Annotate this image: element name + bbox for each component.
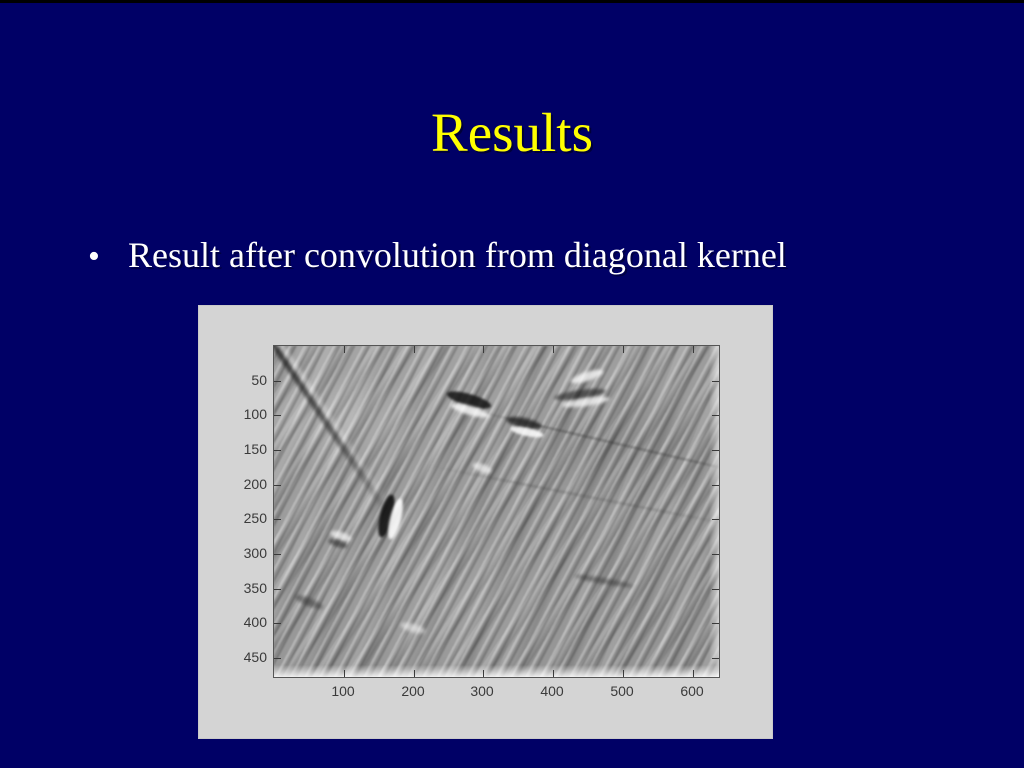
y-tick-label: 100 bbox=[244, 407, 267, 421]
y-tick-mark bbox=[274, 623, 281, 624]
y-tick-label: 300 bbox=[244, 546, 267, 560]
x-tick-label: 300 bbox=[470, 684, 493, 698]
bullet-list-item: • Result after convolution from diagonal… bbox=[84, 232, 984, 280]
y-tick-label: 350 bbox=[244, 581, 267, 595]
bullet-item-label: Result after convolution from diagonal k… bbox=[128, 232, 984, 278]
y-tick-label: 200 bbox=[244, 477, 267, 491]
embossed-image bbox=[274, 346, 719, 677]
figure-panel: 50 100 150 200 250 300 350 400 450 100 2… bbox=[199, 306, 772, 738]
y-tick-mark-right bbox=[712, 554, 719, 555]
y-tick-label: 150 bbox=[244, 442, 267, 456]
x-tick-mark-top bbox=[623, 346, 624, 353]
y-tick-mark-right bbox=[712, 415, 719, 416]
y-tick-label: 450 bbox=[244, 650, 267, 664]
y-tick-mark bbox=[274, 589, 281, 590]
y-tick-label: 50 bbox=[251, 373, 267, 387]
right-edge-highlight bbox=[709, 346, 719, 677]
x-tick-mark-top bbox=[344, 346, 345, 353]
y-tick-label: 250 bbox=[244, 511, 267, 525]
x-axis-tick-labels: 100 200 300 400 500 600 bbox=[273, 684, 720, 704]
y-tick-mark-right bbox=[712, 485, 719, 486]
y-tick-mark bbox=[274, 381, 281, 382]
bottom-edge-highlight bbox=[274, 665, 719, 677]
y-tick-mark bbox=[274, 450, 281, 451]
x-tick-mark-top bbox=[414, 346, 415, 353]
x-tick-label: 400 bbox=[540, 684, 563, 698]
y-tick-mark-right bbox=[712, 381, 719, 382]
x-tick-label: 600 bbox=[680, 684, 703, 698]
top-black-band bbox=[0, 0, 1024, 3]
x-tick-label: 500 bbox=[610, 684, 633, 698]
x-tick-mark-top bbox=[483, 346, 484, 353]
x-tick-mark bbox=[414, 670, 415, 677]
y-tick-mark-right bbox=[712, 623, 719, 624]
y-tick-mark bbox=[274, 519, 281, 520]
x-tick-mark bbox=[693, 670, 694, 677]
y-tick-mark bbox=[274, 485, 281, 486]
bullet-marker-icon: • bbox=[84, 234, 128, 280]
x-tick-label: 200 bbox=[401, 684, 424, 698]
x-tick-mark bbox=[623, 670, 624, 677]
x-tick-mark-top bbox=[693, 346, 694, 353]
image-axes bbox=[273, 345, 720, 678]
slide-canvas: Results • Result after convolution from … bbox=[0, 0, 1024, 768]
y-axis-tick-labels: 50 100 150 200 250 300 350 400 450 bbox=[199, 345, 267, 678]
y-tick-mark bbox=[274, 658, 281, 659]
y-tick-mark-right bbox=[712, 519, 719, 520]
x-tick-mark bbox=[483, 670, 484, 677]
y-tick-mark bbox=[274, 415, 281, 416]
page-title: Results bbox=[0, 101, 1024, 165]
y-tick-mark-right bbox=[712, 589, 719, 590]
y-tick-label: 400 bbox=[244, 615, 267, 629]
y-tick-mark bbox=[274, 554, 281, 555]
x-tick-label: 100 bbox=[331, 684, 354, 698]
x-tick-mark bbox=[553, 670, 554, 677]
x-tick-mark-top bbox=[553, 346, 554, 353]
y-tick-mark-right bbox=[712, 450, 719, 451]
y-tick-mark-right bbox=[712, 658, 719, 659]
x-tick-mark bbox=[344, 670, 345, 677]
